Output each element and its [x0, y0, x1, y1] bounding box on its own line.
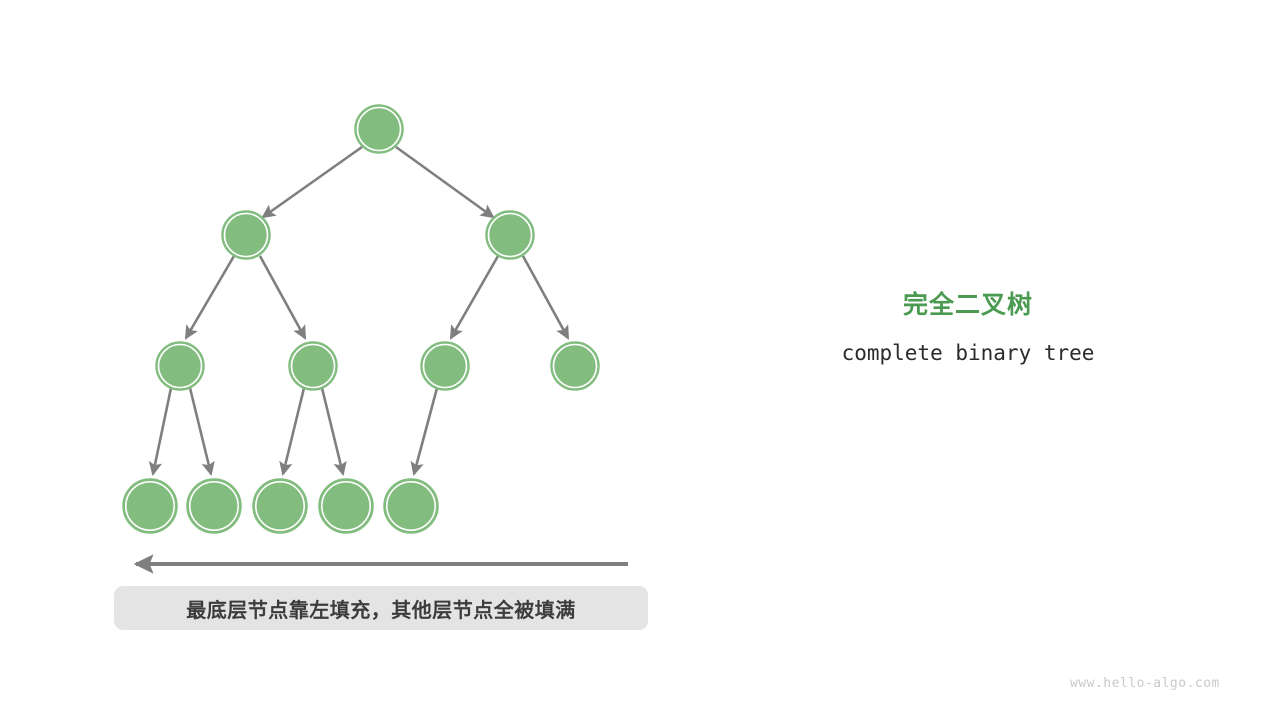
tree-node-n1[interactable]: [222, 211, 270, 259]
tree-node-n3[interactable]: [156, 342, 204, 390]
edge-n0-n1: [263, 147, 362, 217]
tree-node-n2[interactable]: [486, 211, 534, 259]
tree-node-n5[interactable]: [421, 342, 469, 390]
tree-node-n6[interactable]: [551, 342, 599, 390]
edge-n0-n2: [396, 147, 493, 217]
tree-node-n7[interactable]: [123, 479, 177, 533]
tree-edges: [153, 147, 568, 474]
tree-nodes: [123, 105, 599, 533]
tree-node-n8[interactable]: [187, 479, 241, 533]
edge-n4-n10: [322, 388, 343, 474]
edge-n4-n9: [283, 388, 304, 474]
diagram-title-cn: 完全二叉树: [768, 288, 1168, 322]
tree-node-n0[interactable]: [355, 105, 403, 153]
edge-n3-n8: [190, 388, 211, 474]
edge-n5-n11: [414, 388, 437, 474]
caption-text: 最底层节点靠左填充，其他层节点全被填满: [186, 594, 576, 623]
edge-n2-n6: [523, 256, 568, 338]
edge-n2-n5: [451, 256, 498, 338]
tree-node-n9[interactable]: [253, 479, 307, 533]
edge-n1-n4: [260, 256, 305, 338]
tree-node-n4[interactable]: [289, 342, 337, 390]
tree-node-n10[interactable]: [319, 479, 373, 533]
tree-node-n11[interactable]: [384, 479, 438, 533]
edge-n3-n7: [153, 388, 171, 474]
watermark: www.hello-algo.com: [1070, 676, 1220, 691]
diagram-title-en: complete binary tree: [768, 338, 1168, 368]
edge-n1-n3: [186, 256, 234, 338]
legend-block: 完全二叉树 complete binary tree: [768, 288, 1168, 368]
caption-box: 最底层节点靠左填充，其他层节点全被填满: [114, 586, 648, 630]
